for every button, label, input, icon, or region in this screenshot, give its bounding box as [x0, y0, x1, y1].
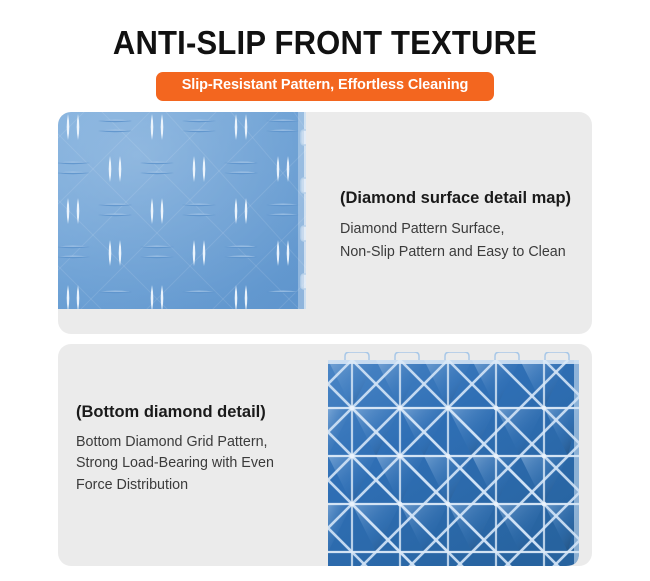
card-text-block-top: (Diamond surface detail map) Diamond Pat… — [340, 189, 590, 264]
page-title: ANTI-SLIP FRONT TEXTURE — [20, 26, 631, 59]
card-heading: (Bottom diamond detail) — [76, 403, 338, 423]
card-text-block-bottom: (Bottom diamond detail) Bottom Diamond G… — [76, 403, 338, 496]
card-body-line: Non-Slip Pattern and Easy to Clean — [340, 241, 590, 264]
card-heading: (Diamond surface detail map) — [340, 189, 590, 209]
card-body-line: Strong Load-Bearing with Even — [76, 453, 338, 474]
diamond-plate-surface-photo — [58, 112, 306, 309]
subtitle-badge: Slip-Resistant Pattern, Effortless Clean… — [156, 72, 495, 101]
card-body-line: Bottom Diamond Grid Pattern, — [76, 432, 338, 453]
feature-card-bottom-grid: (Bottom diamond detail) Bottom Diamond G… — [58, 344, 592, 566]
feature-card-diamond-surface: (Diamond surface detail map) Diamond Pat… — [58, 112, 592, 334]
card-body-line: Force Distribution — [76, 475, 338, 496]
subtitle-badge-container: Slip-Resistant Pattern, Effortless Clean… — [0, 72, 650, 101]
card-body-line: Diamond Pattern Surface, — [340, 218, 590, 241]
page-header: ANTI-SLIP FRONT TEXTURE Slip-Resistant P… — [0, 0, 650, 101]
diamond-grid-underside-photo — [328, 352, 592, 566]
